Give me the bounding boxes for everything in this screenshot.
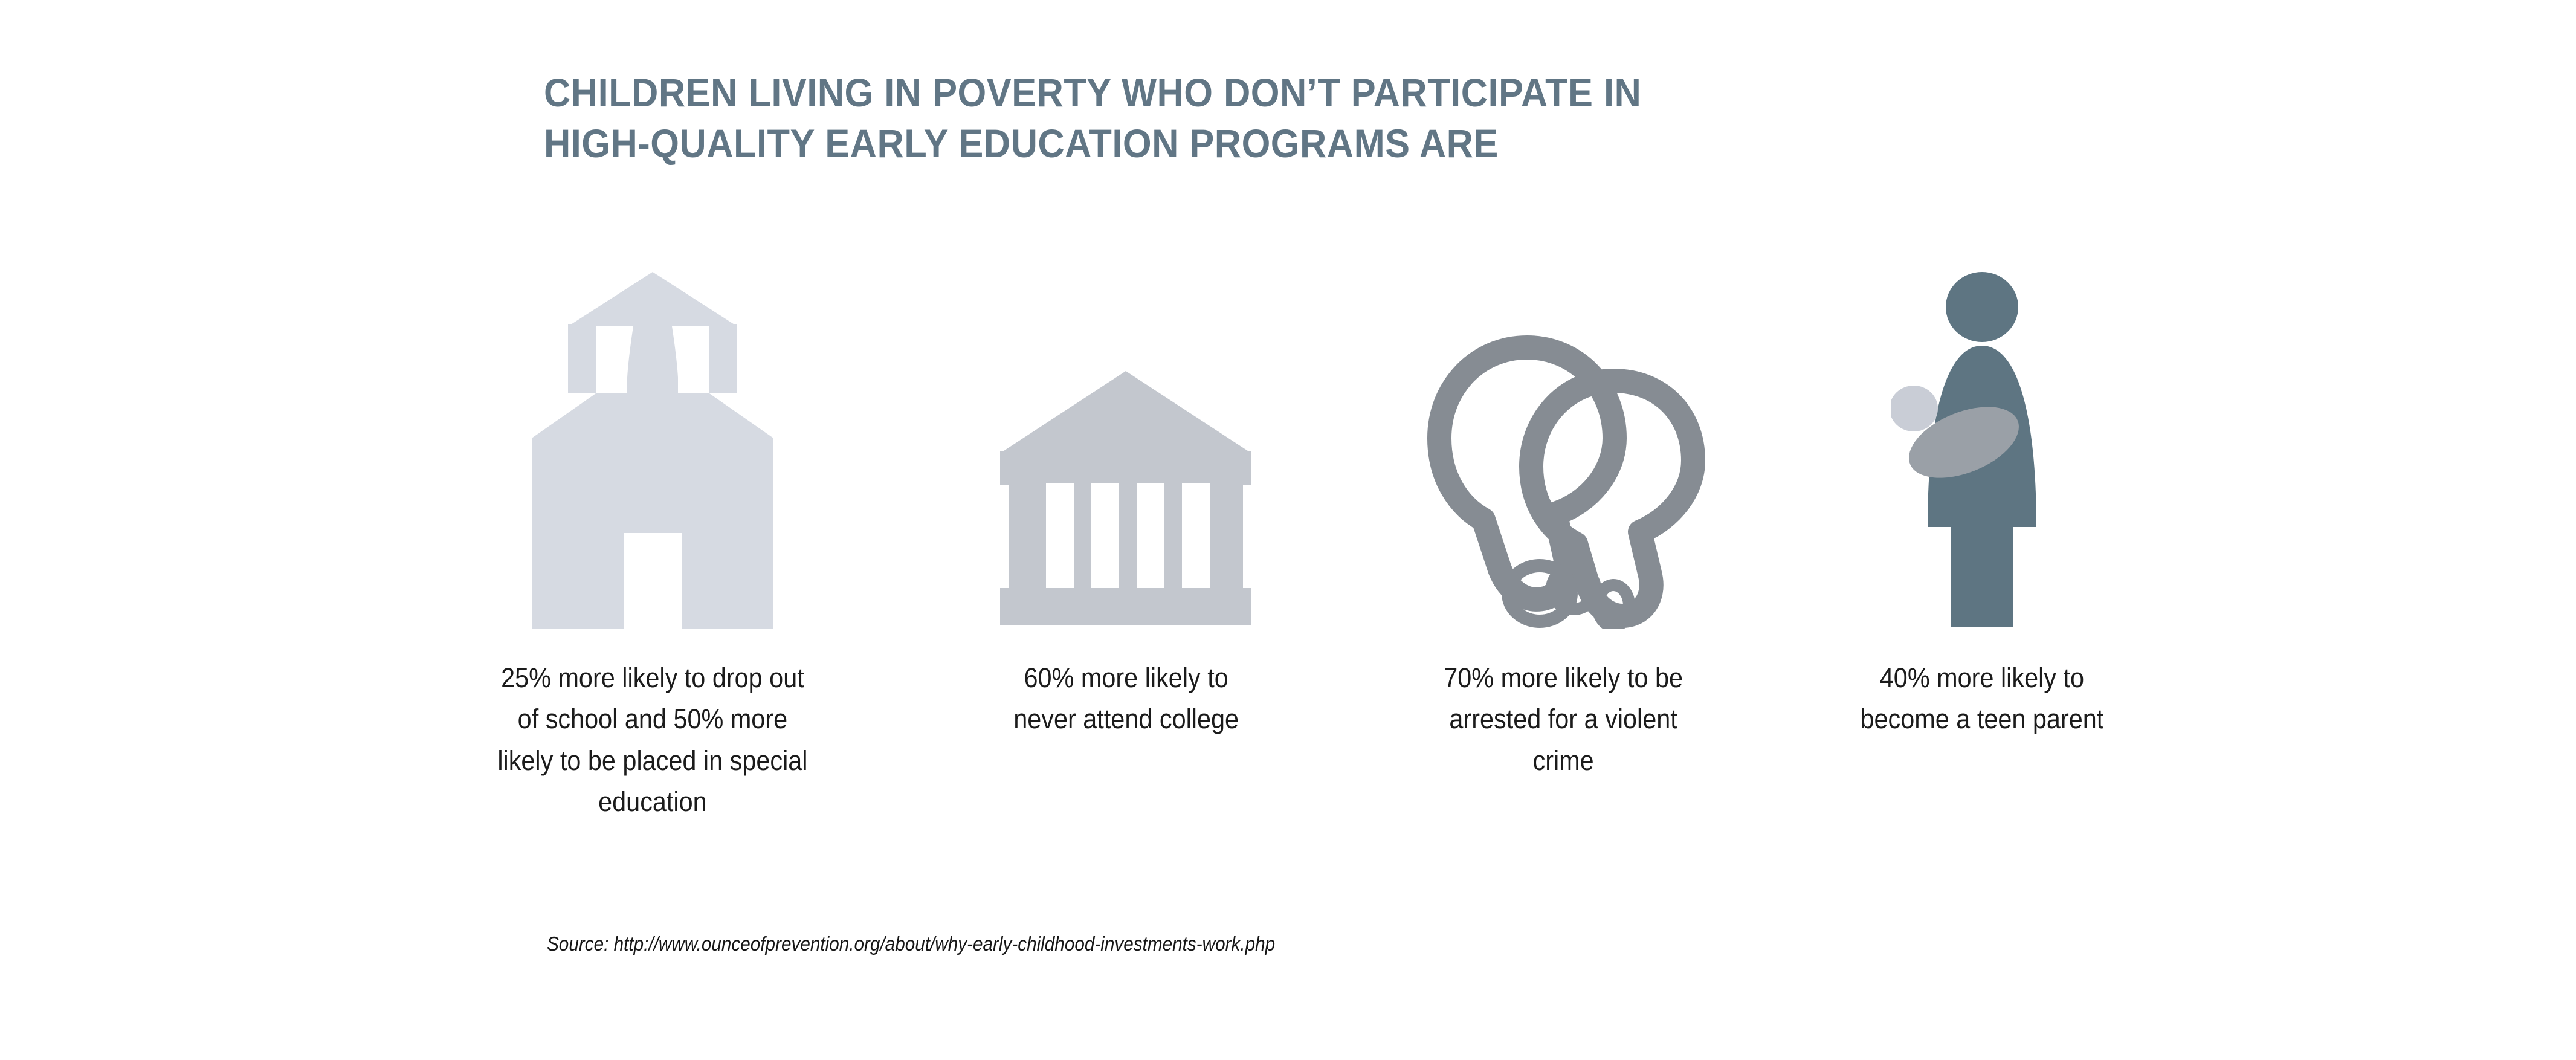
caption-teen-parent: 40% more likely to become a teen parent bbox=[1861, 658, 2104, 740]
stat-columns: 25% more likely to drop out of school an… bbox=[423, 254, 2175, 858]
caption-line: crime bbox=[1444, 740, 1683, 781]
teen-parent-icon bbox=[1891, 266, 2073, 629]
caption-line: likely to be placed in special bbox=[497, 740, 807, 781]
stat-column-dropout: 25% more likely to drop out of school an… bbox=[423, 254, 882, 823]
source-note: Source: http://www.ounceofprevention.org… bbox=[547, 932, 1275, 955]
caption-line: 25% more likely to drop out bbox=[497, 658, 807, 699]
caption-line: 40% more likely to bbox=[1861, 658, 2104, 699]
caption-college: 60% more likely to never attend college bbox=[1013, 658, 1239, 740]
caption-line: of school and 50% more bbox=[497, 699, 807, 740]
page-title-line-1: CHILDREN LIVING IN POVERTY WHO DON’T PAR… bbox=[544, 68, 2005, 118]
college-building-icon-wrap bbox=[999, 254, 1253, 629]
caption-line: become a teen parent bbox=[1861, 699, 2104, 740]
handcuffs-icon bbox=[1421, 332, 1705, 629]
caption-arrest: 70% more likely to be arrested for a vio… bbox=[1444, 658, 1683, 781]
handcuffs-icon-wrap bbox=[1421, 254, 1705, 629]
stat-column-arrest: 70% more likely to be arrested for a vio… bbox=[1370, 254, 1757, 781]
page-title: CHILDREN LIVING IN POVERTY WHO DON’T PAR… bbox=[544, 68, 2005, 169]
teen-parent-icon-wrap bbox=[1891, 254, 2073, 629]
page-title-line-2: HIGH-QUALITY EARLY EDUCATION PROGRAMS AR… bbox=[544, 118, 2005, 169]
college-building-icon bbox=[999, 369, 1253, 629]
caption-dropout: 25% more likely to drop out of school an… bbox=[497, 658, 807, 823]
stat-column-teen-parent: 40% more likely to become a teen parent bbox=[1789, 254, 2175, 740]
schoolhouse-icon bbox=[532, 266, 773, 629]
caption-line: never attend college bbox=[1013, 699, 1239, 740]
caption-line: arrested for a violent bbox=[1444, 699, 1683, 740]
caption-line: education bbox=[497, 781, 807, 822]
schoolhouse-icon-wrap bbox=[532, 254, 773, 629]
caption-line: 70% more likely to be bbox=[1444, 658, 1683, 699]
stat-column-college: 60% more likely to never attend college bbox=[914, 254, 1337, 740]
caption-line: 60% more likely to bbox=[1013, 658, 1239, 699]
infographic-root: CHILDREN LIVING IN POVERTY WHO DON’T PAR… bbox=[0, 0, 2576, 1060]
